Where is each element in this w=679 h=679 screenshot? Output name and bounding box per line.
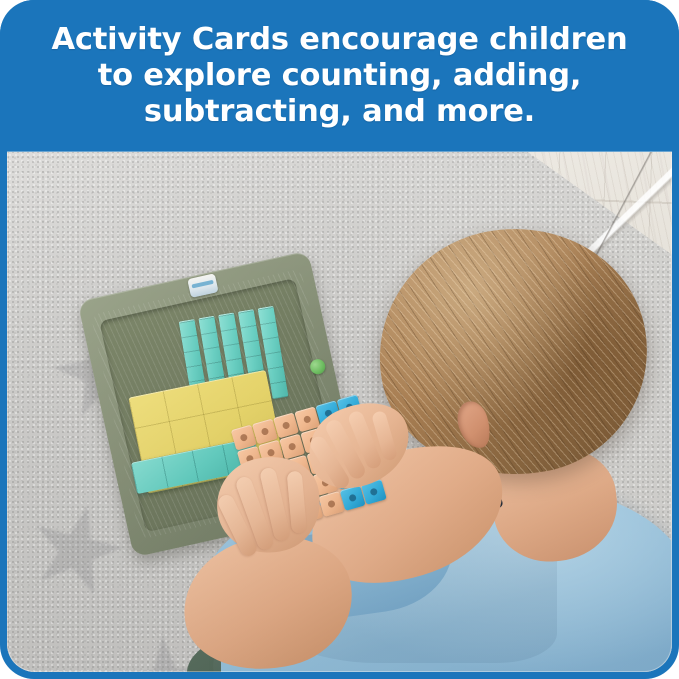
promo-card: Activity Cards encourage children to exp… — [0, 0, 679, 679]
headline-band: Activity Cards encourage children to exp… — [0, 0, 679, 152]
headline-text: Activity Cards encourage children to exp… — [30, 22, 650, 130]
child-finger — [287, 471, 307, 534]
product-photo: ★★★★★★ 25 — [7, 151, 672, 672]
